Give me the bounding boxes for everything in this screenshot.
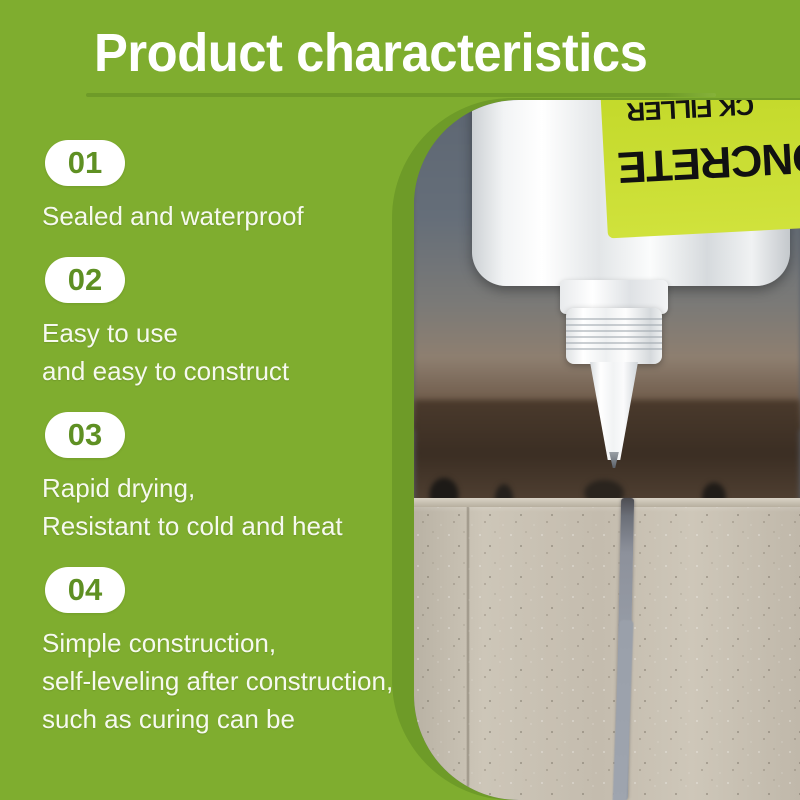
- concrete-slab-seam: [466, 498, 470, 800]
- page-title: Product characteristics: [94, 22, 677, 84]
- feature-text-line: Resistant to cold and heat: [42, 507, 430, 545]
- feature-text-02: Easy to use and easy to construct: [42, 314, 430, 390]
- feature-text-line: self-leveling after construction,: [42, 662, 430, 700]
- label-text-concrete: CONCRETE: [617, 129, 800, 191]
- feature-text-line: Rapid drying,: [42, 469, 430, 507]
- title-underline-divider: [86, 93, 716, 97]
- label-text-crack-filler: CK FILLER: [627, 100, 755, 127]
- product-photo: CK FILLER CONCRETE: [414, 100, 800, 800]
- concrete-slab-top-edge: [414, 498, 800, 507]
- feature-badge-wrap-01: 01: [45, 140, 430, 186]
- product-feature-banner: Product characteristics CK FILLER CONCRE…: [0, 0, 800, 800]
- feature-badge-wrap-02: 02: [45, 257, 430, 303]
- feature-text-03: Rapid drying, Resistant to cold and heat: [42, 469, 430, 545]
- feature-text-line: Sealed and waterproof: [42, 197, 430, 235]
- concrete-texture: [414, 498, 800, 800]
- feature-item-03: 03 Rapid drying, Resistant to cold and h…: [0, 412, 430, 545]
- cap-ridges: [566, 318, 662, 354]
- product-bottle-label: CK FILLER CONCRETE: [600, 100, 800, 238]
- feature-number-badge-03: 03: [45, 412, 125, 458]
- feature-text-01: Sealed and waterproof: [42, 197, 430, 235]
- feature-item-04: 04 Simple construction, self-leveling af…: [0, 567, 430, 738]
- feature-badge-wrap-04: 04: [45, 567, 430, 613]
- feature-item-01: 01 Sealed and waterproof: [0, 140, 430, 235]
- feature-number-badge-04: 04: [45, 567, 125, 613]
- feature-item-02: 02 Easy to use and easy to construct: [0, 257, 430, 390]
- feature-number-badge-02: 02: [45, 257, 125, 303]
- feature-number-badge-01: 01: [45, 140, 125, 186]
- feature-text-line: and easy to construct: [42, 352, 430, 390]
- feature-badge-wrap-03: 03: [45, 412, 430, 458]
- feature-text-04: Simple construction, self-leveling after…: [42, 624, 430, 738]
- feature-text-line: Easy to use: [42, 314, 430, 352]
- product-bottle-body: CK FILLER CONCRETE: [472, 100, 790, 286]
- concrete-slab: [414, 498, 800, 800]
- feature-text-line: Simple construction,: [42, 624, 430, 662]
- feature-list: 01 Sealed and waterproof 02 Easy to use …: [0, 140, 430, 738]
- product-bottle-cap: [566, 308, 662, 364]
- feature-text-line: such as curing can be: [42, 700, 430, 738]
